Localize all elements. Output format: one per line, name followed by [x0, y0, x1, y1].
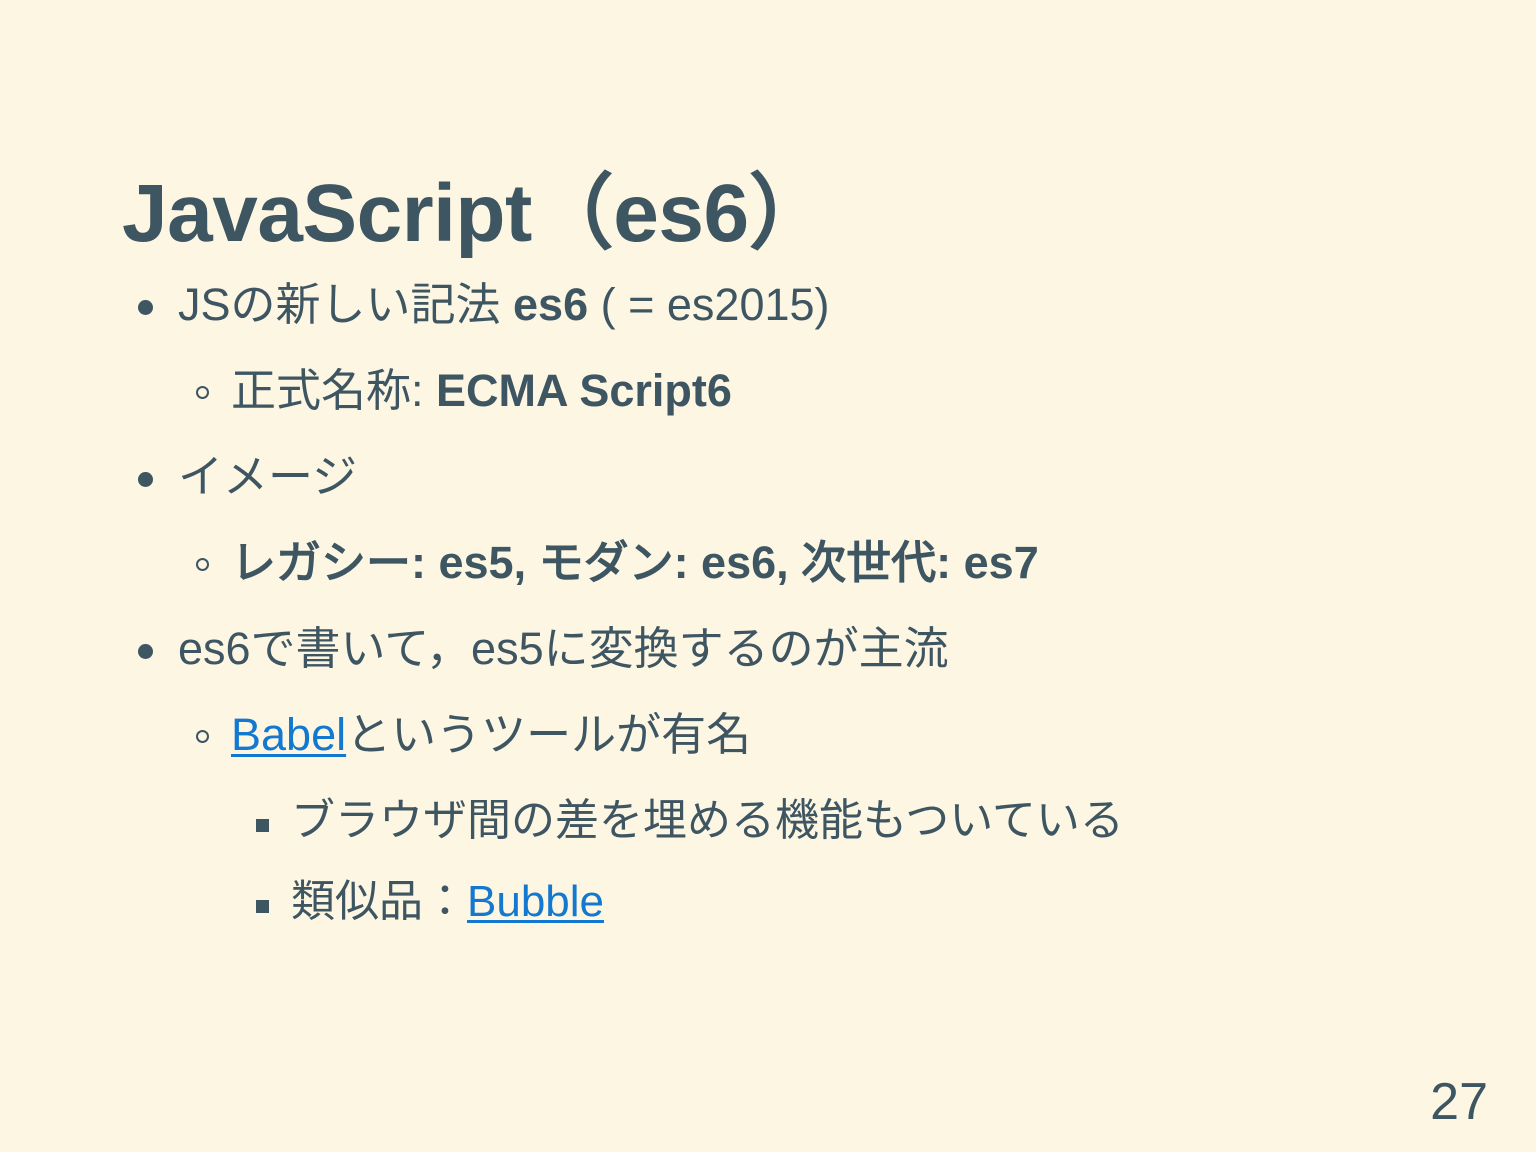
- plain-text: es6で書いて，es5に変換するのが主流: [178, 623, 949, 674]
- list-item: レガシー: es5, モダン: es6, 次世代: es7: [0, 536, 1536, 589]
- list-item-label: JSの新しい記法 es6 ( = es2015): [178, 278, 830, 331]
- bullet-circle-icon: [196, 386, 209, 399]
- plain-text: JSの新しい記法: [178, 279, 513, 330]
- emphasis-text: レガシー: es5, モダン: es6, 次世代: es7: [231, 537, 1039, 588]
- plain-text: イメージ: [178, 451, 357, 502]
- plain-text: 正式名称:: [231, 365, 436, 416]
- list-item-label: Babelというツールが有名: [231, 708, 751, 761]
- list-item-label: 類似品：Bubble: [291, 876, 604, 928]
- bullet-disc-icon: [138, 300, 153, 315]
- emphasis-text: ECMA Script6: [436, 365, 732, 416]
- list-item: 類似品：Bubble: [0, 876, 1536, 928]
- bullet-circle-icon: [196, 558, 209, 571]
- plain-text: ( = es2015): [588, 279, 829, 330]
- list-item-label: レガシー: es5, モダン: es6, 次世代: es7: [231, 536, 1039, 589]
- list-item-label: ブラウザ間の差を埋める機能もついている: [291, 795, 1124, 847]
- list-item-label: イメージ: [178, 450, 357, 503]
- list-item: ブラウザ間の差を埋める機能もついている: [0, 795, 1536, 847]
- list-item-label: 正式名称: ECMA Script6: [231, 364, 732, 417]
- emphasis-text: es6: [513, 279, 588, 330]
- bullet-square-icon: [256, 900, 269, 913]
- list-item: イメージ: [0, 450, 1536, 503]
- bullet-list: JSの新しい記法 es6 ( = es2015)正式名称: ECMA Scrip…: [0, 278, 1536, 958]
- list-item-label: es6で書いて，es5に変換するのが主流: [178, 622, 949, 675]
- list-item: es6で書いて，es5に変換するのが主流: [0, 622, 1536, 675]
- slide-root: JavaScript（es6） JSの新しい記法 es6 ( = es2015)…: [0, 0, 1536, 1152]
- plain-text: というツールが有名: [346, 709, 751, 760]
- link-bubble[interactable]: Bubble: [467, 877, 604, 926]
- bullet-circle-icon: [196, 730, 209, 743]
- list-item: 正式名称: ECMA Script6: [0, 364, 1536, 417]
- page-number: 27: [1430, 1076, 1488, 1128]
- list-item: Babelというツールが有名: [0, 708, 1536, 761]
- bullet-disc-icon: [138, 472, 153, 487]
- bullet-square-icon: [256, 819, 269, 832]
- list-item: JSの新しい記法 es6 ( = es2015): [0, 278, 1536, 331]
- page-title: JavaScript（es6）: [122, 171, 830, 257]
- link-babel[interactable]: Babel: [231, 709, 346, 760]
- plain-text: ブラウザ間の差を埋める機能もついている: [291, 796, 1124, 845]
- bullet-disc-icon: [138, 644, 153, 659]
- plain-text: 類似品：: [291, 877, 467, 926]
